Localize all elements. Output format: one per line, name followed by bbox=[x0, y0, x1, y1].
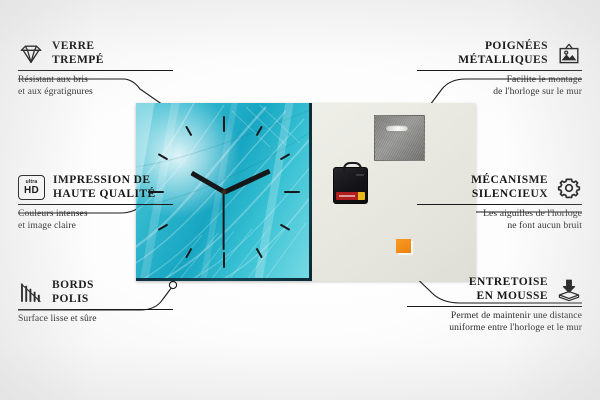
clock-tick bbox=[280, 153, 291, 160]
clock-second-hand bbox=[223, 192, 225, 250]
feature-header: VERRE TREMPÉ bbox=[18, 40, 173, 67]
feature-header: POIGNÉES MÉTALLIQUES bbox=[417, 40, 582, 67]
clock-tick bbox=[256, 248, 263, 259]
feature-description: Les aiguilles de l'horloge ne font aucun… bbox=[417, 208, 582, 231]
divider bbox=[18, 70, 173, 71]
foam-spacer-pad bbox=[396, 239, 411, 253]
feature-header: MÉCANISME SILENCIEUX bbox=[417, 174, 582, 201]
feature-description: Facilite le montage de l'horloge sur le … bbox=[417, 74, 582, 97]
divider bbox=[407, 306, 582, 307]
feature-title: POIGNÉES MÉTALLIQUES bbox=[458, 40, 548, 67]
clock-hour-hand bbox=[190, 171, 225, 194]
feature-description: Surface lisse et sûre bbox=[18, 313, 173, 325]
clock-tick bbox=[280, 224, 291, 231]
picture-hanger-icon bbox=[556, 42, 582, 66]
feature-verre-trempe: VERRE TREMPÉ Résistant aux bris et aux é… bbox=[18, 40, 173, 97]
feature-description: Permet de maintenir une distance uniform… bbox=[407, 310, 582, 333]
gear-icon bbox=[556, 176, 582, 200]
clock-tick bbox=[256, 126, 263, 137]
feature-mecanisme-silencieux: MÉCANISME SILENCIEUX Les aiguilles de l'… bbox=[417, 174, 582, 231]
feature-header: ENTRETOISE EN MOUSSE bbox=[407, 276, 582, 303]
feature-entretoise-en-mousse: ENTRETOISE EN MOUSSE Permet de maintenir… bbox=[407, 276, 582, 333]
clock-tick bbox=[223, 252, 225, 268]
hanger-loop bbox=[343, 162, 362, 173]
ultra-hd-icon: ultra HD bbox=[18, 175, 45, 200]
feature-header: BORDS POLIS bbox=[18, 279, 173, 306]
feature-description: Couleurs intenses et image claire bbox=[18, 208, 173, 231]
clock-tick bbox=[185, 248, 192, 259]
feature-title: ENTRETOISE EN MOUSSE bbox=[469, 276, 548, 303]
movement-detail bbox=[356, 174, 364, 176]
divider bbox=[417, 70, 582, 71]
feature-impression-haute-qualite: ultra HD IMPRESSION DE HAUTE QUALITÉ Cou… bbox=[18, 174, 173, 231]
clock-tick bbox=[185, 126, 192, 137]
clock-tick bbox=[284, 191, 300, 193]
feature-title: BORDS POLIS bbox=[52, 279, 94, 306]
hanger-slot bbox=[386, 125, 408, 131]
battery bbox=[336, 192, 365, 200]
clock-tick bbox=[223, 116, 225, 132]
quartz-movement bbox=[333, 167, 368, 204]
feature-title: VERRE TREMPÉ bbox=[52, 40, 104, 67]
clock-minute-hand bbox=[223, 169, 270, 194]
clock-center-pin bbox=[222, 190, 227, 195]
polished-edge-icon bbox=[18, 281, 44, 305]
metal-hanger-plate bbox=[374, 115, 425, 161]
feature-bords-polis: BORDS POLIS Surface lisse et sûre bbox=[18, 279, 173, 325]
divider bbox=[18, 309, 173, 310]
clock-tick bbox=[158, 153, 169, 160]
divider bbox=[18, 204, 173, 205]
divider bbox=[417, 204, 582, 205]
infographic-canvas: VERRE TREMPÉ Résistant aux bris et aux é… bbox=[0, 0, 600, 400]
feature-description: Résistant aux bris et aux égratignures bbox=[18, 74, 173, 97]
feature-poignees-metalliques: POIGNÉES MÉTALLIQUES Facilite le montage… bbox=[417, 40, 582, 97]
feature-header: ultra HD IMPRESSION DE HAUTE QUALITÉ bbox=[18, 174, 173, 201]
feature-title: MÉCANISME SILENCIEUX bbox=[471, 174, 548, 201]
feature-title: IMPRESSION DE HAUTE QUALITÉ bbox=[53, 174, 156, 201]
foam-spacer-icon bbox=[556, 278, 582, 302]
diamond-icon bbox=[18, 42, 44, 66]
